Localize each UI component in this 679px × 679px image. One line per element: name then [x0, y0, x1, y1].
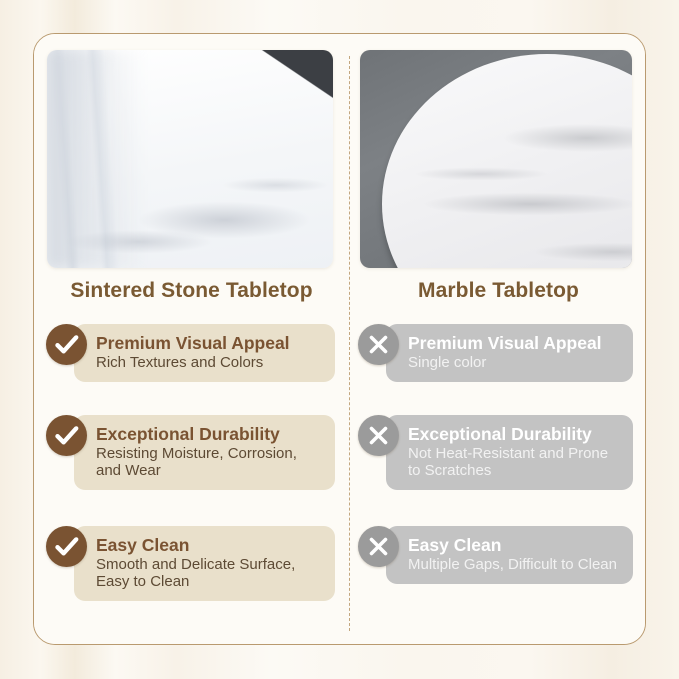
- feature-title: Premium Visual Appeal: [408, 333, 619, 353]
- column-sintered-stone: Sintered Stone Tabletop Premium Visual A…: [34, 34, 349, 644]
- feature-subtitle: Single color: [408, 354, 619, 371]
- feature-subtitle: Smooth and Delicate Surface, Easy to Cle…: [96, 556, 321, 590]
- check-icon: [46, 526, 87, 567]
- feature-title: Exceptional Durability: [408, 424, 619, 444]
- feature-row: Easy Clean Multiple Gaps, Difficult to C…: [358, 526, 633, 584]
- feature-title: Easy Clean: [96, 535, 321, 555]
- comparison-panel: Sintered Stone Tabletop Premium Visual A…: [34, 34, 645, 644]
- feature-row: Exceptional Durability Not Heat-Resistan…: [358, 415, 633, 490]
- column-title-sintered-stone: Sintered Stone Tabletop: [34, 279, 349, 303]
- feature-subtitle: Not Heat-Resistant and Prone to Scratche…: [408, 445, 619, 479]
- feature-card: Premium Visual Appeal Single color: [386, 324, 633, 382]
- feature-row: Premium Visual Appeal Single color: [358, 324, 633, 382]
- feature-card: Easy Clean Multiple Gaps, Difficult to C…: [386, 526, 633, 584]
- feature-card: Exceptional Durability Not Heat-Resistan…: [386, 415, 633, 490]
- comparison-card-frame: Sintered Stone Tabletop Premium Visual A…: [33, 33, 646, 645]
- feature-card: Easy Clean Smooth and Delicate Surface, …: [74, 526, 335, 601]
- marble-photo: [360, 50, 632, 268]
- feature-row: Easy Clean Smooth and Delicate Surface, …: [46, 526, 335, 601]
- sintered-stone-photo: [47, 50, 333, 268]
- column-marble: Marble Tabletop Premium Visual Appeal Si…: [350, 34, 646, 644]
- marble-table-surface: [382, 54, 632, 268]
- feature-title: Easy Clean: [408, 535, 619, 555]
- feature-title: Exceptional Durability: [96, 424, 321, 444]
- feature-row: Premium Visual Appeal Rich Textures and …: [46, 324, 335, 382]
- feature-subtitle: Multiple Gaps, Difficult to Clean: [408, 556, 619, 573]
- check-icon: [46, 415, 87, 456]
- cross-icon: [358, 324, 399, 365]
- feature-title: Premium Visual Appeal: [96, 333, 321, 353]
- feature-card: Premium Visual Appeal Rich Textures and …: [74, 324, 335, 382]
- check-icon: [46, 324, 87, 365]
- feature-subtitle: Rich Textures and Colors: [96, 354, 321, 371]
- feature-card: Exceptional Durability Resisting Moistur…: [74, 415, 335, 490]
- column-title-marble: Marble Tabletop: [350, 279, 646, 303]
- feature-row: Exceptional Durability Resisting Moistur…: [46, 415, 335, 490]
- cross-icon: [358, 526, 399, 567]
- cross-icon: [358, 415, 399, 456]
- feature-subtitle: Resisting Moisture, Corrosion, and Wear: [96, 445, 321, 479]
